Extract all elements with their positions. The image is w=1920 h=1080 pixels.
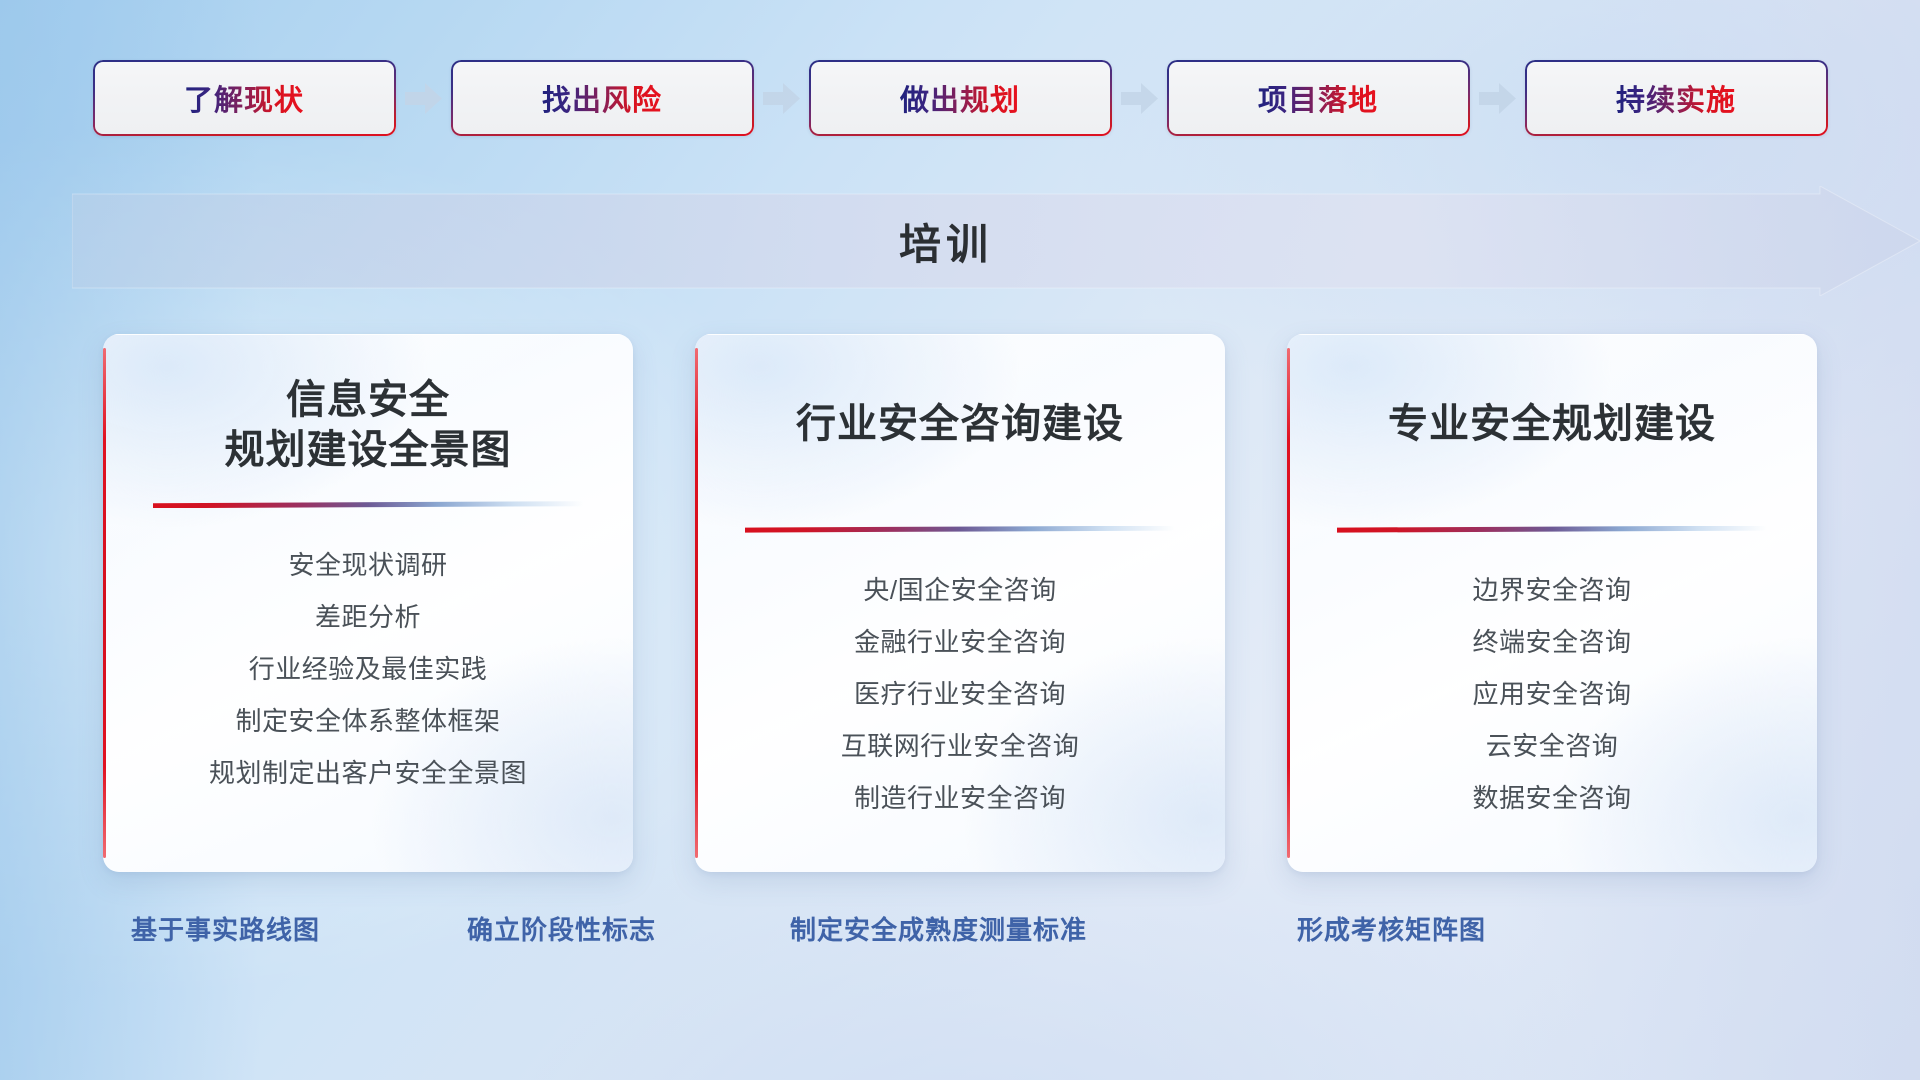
card-title-line: 规划建设全景图 (148, 426, 588, 476)
footnote-row: 基于事实路线图 确立阶段性标志 制定安全成熟度测量标准 形成考核矩阵图 (0, 910, 1920, 962)
process-step-1[interactable]: 了解现状 (93, 60, 396, 136)
card-item-list: 央/国企安全咨询 金融行业安全咨询 医疗行业安全咨询 互联网行业安全咨询 制造行… (720, 577, 1200, 811)
footnote-label-2: 确立阶段性标志 (467, 910, 656, 947)
process-step-row: 了解现状 找出风险 做出规划 项目落地 持续实施 (0, 56, 1920, 140)
card-left-accent (1287, 348, 1290, 858)
card-divider (745, 526, 1175, 533)
list-item: 云安全咨询 (1312, 733, 1792, 759)
card-title-line: 专业安全规划建设 (1332, 400, 1772, 450)
list-item: 金融行业安全咨询 (720, 629, 1200, 655)
card-divider (153, 501, 583, 508)
process-step-label: 做出规划 (900, 77, 1020, 119)
step-connector-1 (396, 60, 451, 136)
footnote-label-3: 制定安全成熟度测量标准 (790, 910, 1087, 947)
card-title-line: 信息安全 (148, 376, 588, 426)
process-step-label: 项目落地 (1258, 77, 1378, 119)
card-title: 信息安全 规划建设全景图 (148, 376, 588, 475)
process-step-5[interactable]: 持续实施 (1525, 60, 1828, 136)
card-top-highlight (1287, 334, 1817, 335)
footnote-label-1: 基于事实路线图 (131, 910, 320, 947)
list-item: 应用安全咨询 (1312, 681, 1792, 707)
list-item: 行业经验及最佳实践 (128, 656, 608, 682)
card-left-accent (103, 348, 106, 858)
process-step-label: 持续实施 (1616, 77, 1736, 119)
footnote-label-4: 形成考核矩阵图 (1297, 910, 1486, 947)
banner-arrow-shape (72, 186, 1920, 296)
step-connector-2 (754, 60, 809, 136)
right-arrow-icon (405, 83, 442, 114)
card-item-list: 边界安全咨询 终端安全咨询 应用安全咨询 云安全咨询 数据安全咨询 (1312, 577, 1792, 811)
card-top-highlight (103, 334, 633, 335)
process-step-3[interactable]: 做出规划 (809, 60, 1112, 136)
card-title: 专业安全规划建设 (1332, 400, 1772, 450)
right-arrow-icon (1479, 83, 1516, 114)
list-item: 数据安全咨询 (1312, 785, 1792, 811)
card-title: 行业安全咨询建设 (740, 400, 1180, 450)
process-step-label: 找出风险 (542, 77, 662, 119)
list-item: 终端安全咨询 (1312, 629, 1792, 655)
right-arrow-icon (1121, 83, 1158, 114)
card-professional-security-planning[interactable]: 专业安全规划建设 边界安全咨询 终端安全咨询 应用安全咨询 云安全咨询 数据安全… (1287, 334, 1817, 872)
card-divider (1337, 526, 1767, 533)
step-connector-3 (1112, 60, 1167, 136)
process-step-label: 了解现状 (184, 77, 304, 119)
list-item: 边界安全咨询 (1312, 577, 1792, 603)
list-item: 制定安全体系整体框架 (128, 708, 608, 734)
card-item-list: 安全现状调研 差距分析 行业经验及最佳实践 制定安全体系整体框架 规划制定出客户… (128, 552, 608, 786)
process-step-4[interactable]: 项目落地 (1167, 60, 1470, 136)
process-step-2[interactable]: 找出风险 (451, 60, 754, 136)
list-item: 医疗行业安全咨询 (720, 681, 1200, 707)
training-banner: 培训 (72, 186, 1920, 296)
list-item: 互联网行业安全咨询 (720, 733, 1200, 759)
list-item: 规划制定出客户安全全景图 (128, 760, 608, 786)
list-item: 制造行业安全咨询 (720, 785, 1200, 811)
card-top-highlight (695, 334, 1225, 335)
card-industry-security-consulting[interactable]: 行业安全咨询建设 央/国企安全咨询 金融行业安全咨询 医疗行业安全咨询 互联网行… (695, 334, 1225, 872)
step-connector-4 (1470, 60, 1525, 136)
card-left-accent (695, 348, 698, 858)
list-item: 安全现状调研 (128, 552, 608, 578)
list-item: 央/国企安全咨询 (720, 577, 1200, 603)
card-information-security-blueprint[interactable]: 信息安全 规划建设全景图 安全现状调研 差距分析 行业经验及最佳实践 制定安全体… (103, 334, 633, 872)
card-row: 信息安全 规划建设全景图 安全现状调研 差距分析 行业经验及最佳实践 制定安全体… (0, 334, 1920, 872)
card-title-line: 行业安全咨询建设 (740, 400, 1180, 450)
right-arrow-icon (763, 83, 800, 114)
list-item: 差距分析 (128, 604, 608, 630)
